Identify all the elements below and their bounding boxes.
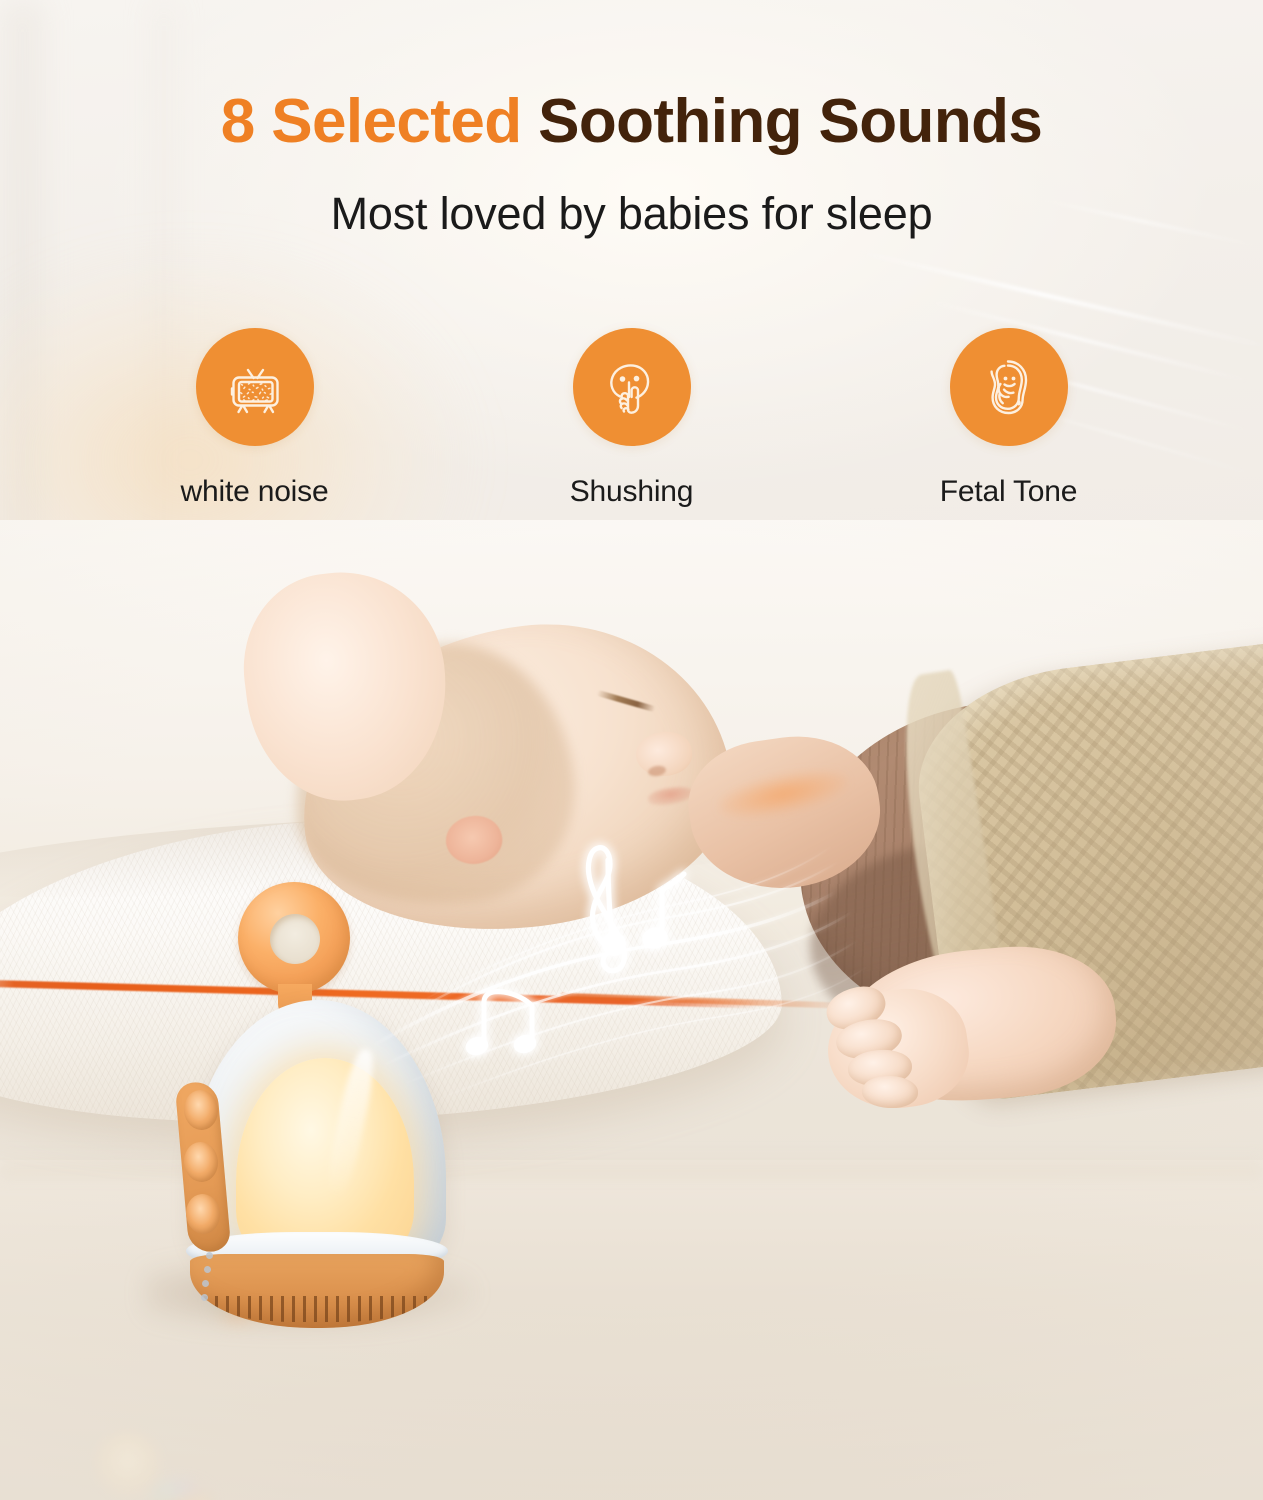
subtitle: Most loved by babies for sleep [0,186,1263,242]
sound-machine-device[interactable] [160,880,470,1350]
bokeh-light-icon [96,1432,160,1496]
feature-list: white noise [0,328,1263,528]
feature-item-shushing[interactable]: Shushing [532,328,732,510]
device-led-indicator [206,1252,213,1259]
feature-label: Fetal Tone [940,474,1078,510]
device-led-indicator [202,1280,209,1287]
device-handle-hole [270,914,320,964]
feature-item-fetal-tone[interactable]: Fetal Tone [909,328,1109,510]
headline-rest: Soothing Sounds [521,87,1042,156]
feature-icon-badge [573,328,691,446]
feature-label: white noise [181,474,329,510]
product-marketing-poster: 8 Selected Soothing Sounds Most loved by… [0,0,1263,1500]
device-led-indicator [204,1266,211,1273]
headline: 8 Selected Soothing Sounds [0,86,1263,158]
feature-icon-badge [196,328,314,446]
device-led-indicator [201,1294,208,1301]
shushing-face-icon [597,352,667,422]
headline-highlight: 8 Selected [221,87,522,156]
feature-item-white-noise[interactable]: white noise [155,328,355,510]
feature-label: Shushing [570,474,694,510]
fetus-icon [974,352,1044,422]
tv-static-icon [220,352,290,422]
feature-icon-badge [950,328,1068,446]
